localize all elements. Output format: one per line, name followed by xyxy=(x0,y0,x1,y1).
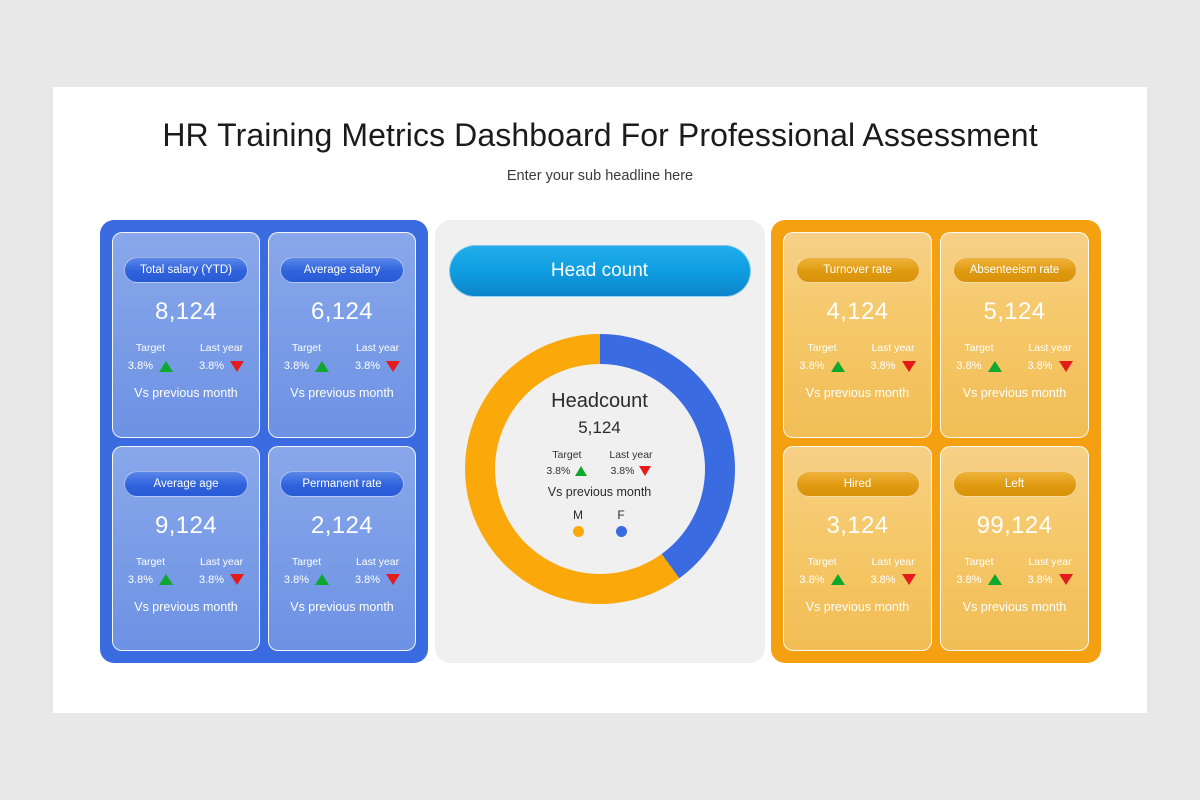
kpi-last-year: Last year 3.8% xyxy=(355,342,400,372)
kpi-last-year-label: Last year xyxy=(356,556,399,568)
kpi-target-pct: 3.8% xyxy=(956,574,981,586)
triangle-up-icon xyxy=(315,361,329,372)
kpi-target-pct: 3.8% xyxy=(284,360,309,372)
kpi-card-hired[interactable]: Hired 3,124 Target 3.8% Last year xyxy=(783,446,932,652)
kpi-value: 6,124 xyxy=(311,298,373,326)
triangle-up-icon xyxy=(159,574,173,585)
kpi-compare: Target 3.8% Last year 3.8% xyxy=(799,342,915,372)
triangle-down-icon xyxy=(639,466,651,476)
donut-center: Headcount 5,124 Target 3.8% Last year xyxy=(495,364,705,574)
kpi-last-year: Last year 3.8% xyxy=(1028,556,1073,586)
kpi-card-average-age[interactable]: Average age 9,124 Target 3.8% Last year xyxy=(112,446,260,652)
kpi-last-year-row: 3.8% xyxy=(199,360,244,372)
kpi-last-year-pct: 3.8% xyxy=(199,360,224,372)
kpi-target-label: Target xyxy=(136,342,165,354)
kpi-last-year: Last year 3.8% xyxy=(199,556,244,586)
kpi-target: Target 3.8% xyxy=(799,342,844,372)
triangle-up-icon xyxy=(988,361,1002,372)
kpi-target-pct: 3.8% xyxy=(799,360,824,372)
donut-target: Target 3.8% xyxy=(546,449,587,477)
right-kpi-grid: Turnover rate 4,124 Target 3.8% Last yea… xyxy=(783,232,1089,651)
kpi-footer: Vs previous month xyxy=(134,386,238,400)
headcount-donut-chart[interactable]: Headcount 5,124 Target 3.8% Last year xyxy=(465,334,735,604)
donut-last-year-row: 3.8% xyxy=(610,465,651,477)
kpi-value: 9,124 xyxy=(155,512,217,540)
kpi-target-pct: 3.8% xyxy=(128,360,153,372)
kpi-last-year-label: Last year xyxy=(356,342,399,354)
kpi-last-year-row: 3.8% xyxy=(355,574,400,586)
donut-legend: M F xyxy=(573,508,627,537)
page-subtitle: Enter your sub headline here xyxy=(53,168,1147,184)
kpi-card-average-salary[interactable]: Average salary 6,124 Target 3.8% Last ye… xyxy=(268,232,416,438)
kpi-footer: Vs previous month xyxy=(290,600,394,614)
kpi-compare: Target 3.8% Last year 3.8% xyxy=(956,342,1072,372)
triangle-up-icon xyxy=(831,361,845,372)
kpi-last-year-pct: 3.8% xyxy=(355,360,380,372)
kpi-target-row: 3.8% xyxy=(799,574,844,586)
triangle-down-icon xyxy=(230,574,244,585)
kpi-title-pill[interactable]: Permanent rate xyxy=(280,471,404,497)
right-metrics-panel: Turnover rate 4,124 Target 3.8% Last yea… xyxy=(771,220,1101,663)
kpi-card-turnover-rate[interactable]: Turnover rate 4,124 Target 3.8% Last yea… xyxy=(783,232,932,438)
legend-label: F xyxy=(617,508,624,522)
kpi-last-year-pct: 3.8% xyxy=(871,360,896,372)
slide-header: HR Training Metrics Dashboard For Profes… xyxy=(53,87,1147,184)
kpi-target-row: 3.8% xyxy=(284,360,329,372)
kpi-value: 8,124 xyxy=(155,298,217,326)
kpi-last-year-label: Last year xyxy=(200,556,243,568)
panels-row: Total salary (YTD) 8,124 Target 3.8% Las… xyxy=(100,220,1101,663)
kpi-last-year-row: 3.8% xyxy=(355,360,400,372)
kpi-target: Target 3.8% xyxy=(284,556,329,586)
legend-label: M xyxy=(573,508,583,522)
kpi-last-year-row: 3.8% xyxy=(199,574,244,586)
legend-dot-icon xyxy=(573,526,584,537)
kpi-target: Target 3.8% xyxy=(956,556,1001,586)
kpi-footer: Vs previous month xyxy=(806,600,910,614)
kpi-footer: Vs previous month xyxy=(290,386,394,400)
kpi-card-permanent-rate[interactable]: Permanent rate 2,124 Target 3.8% Last ye… xyxy=(268,446,416,652)
head-count-button[interactable]: Head count xyxy=(449,245,751,297)
kpi-last-year: Last year 3.8% xyxy=(871,342,916,372)
triangle-up-icon xyxy=(315,574,329,585)
kpi-target-row: 3.8% xyxy=(799,360,844,372)
kpi-card-absenteeism-rate[interactable]: Absenteeism rate 5,124 Target 3.8% Last … xyxy=(940,232,1089,438)
left-metrics-panel: Total salary (YTD) 8,124 Target 3.8% Las… xyxy=(100,220,428,663)
kpi-compare: Target 3.8% Last year 3.8% xyxy=(284,556,400,586)
kpi-compare: Target 3.8% Last year 3.8% xyxy=(128,556,244,586)
kpi-last-year-row: 3.8% xyxy=(871,574,916,586)
kpi-target: Target 3.8% xyxy=(284,342,329,372)
triangle-up-icon xyxy=(575,466,587,476)
kpi-last-year-label: Last year xyxy=(871,342,914,354)
donut-title: Headcount xyxy=(551,390,648,413)
kpi-last-year-label: Last year xyxy=(1028,342,1071,354)
left-kpi-grid: Total salary (YTD) 8,124 Target 3.8% Las… xyxy=(112,232,416,651)
kpi-title-pill[interactable]: Turnover rate xyxy=(796,257,920,283)
kpi-last-year-pct: 3.8% xyxy=(355,574,380,586)
kpi-title-pill[interactable]: Total salary (YTD) xyxy=(124,257,248,283)
kpi-footer: Vs previous month xyxy=(806,386,910,400)
triangle-down-icon xyxy=(902,361,916,372)
donut-last-year: Last year 3.8% xyxy=(609,449,652,477)
kpi-card-total-salary[interactable]: Total salary (YTD) 8,124 Target 3.8% Las… xyxy=(112,232,260,438)
kpi-target-label: Target xyxy=(964,342,993,354)
kpi-value: 3,124 xyxy=(826,512,888,540)
kpi-last-year-label: Last year xyxy=(1028,556,1071,568)
triangle-down-icon xyxy=(386,574,400,585)
kpi-title-pill[interactable]: Left xyxy=(953,471,1077,497)
kpi-target-label: Target xyxy=(292,342,321,354)
kpi-last-year-row: 3.8% xyxy=(1028,574,1073,586)
kpi-target-label: Target xyxy=(292,556,321,568)
donut-last-year-pct: 3.8% xyxy=(610,465,634,477)
kpi-compare: Target 3.8% Last year 3.8% xyxy=(284,342,400,372)
kpi-target-row: 3.8% xyxy=(128,574,173,586)
kpi-last-year-row: 3.8% xyxy=(871,360,916,372)
kpi-footer: Vs previous month xyxy=(963,386,1067,400)
donut-target-row: 3.8% xyxy=(546,465,587,477)
kpi-last-year-pct: 3.8% xyxy=(199,574,224,586)
kpi-compare: Target 3.8% Last year 3.8% xyxy=(956,556,1072,586)
kpi-last-year-label: Last year xyxy=(871,556,914,568)
donut-value: 5,124 xyxy=(578,418,621,438)
kpi-last-year: Last year 3.8% xyxy=(355,556,400,586)
kpi-target-pct: 3.8% xyxy=(128,574,153,586)
headcount-panel: Head count Headcount 5,124 Target 3.8% xyxy=(435,220,765,663)
kpi-last-year: Last year 3.8% xyxy=(199,342,244,372)
kpi-last-year-pct: 3.8% xyxy=(1028,360,1053,372)
kpi-target-label: Target xyxy=(136,556,165,568)
kpi-title-pill[interactable]: Absenteeism rate xyxy=(953,257,1077,283)
kpi-value: 99,124 xyxy=(977,512,1053,540)
kpi-target-label: Target xyxy=(964,556,993,568)
slide: HR Training Metrics Dashboard For Profes… xyxy=(53,87,1147,713)
kpi-last-year-row: 3.8% xyxy=(1028,360,1073,372)
kpi-target-pct: 3.8% xyxy=(284,574,309,586)
donut-last-year-label: Last year xyxy=(609,449,652,461)
triangle-down-icon xyxy=(1059,574,1073,585)
kpi-target: Target 3.8% xyxy=(799,556,844,586)
triangle-down-icon xyxy=(1059,361,1073,372)
legend-item-female: F xyxy=(616,508,627,537)
kpi-last-year: Last year 3.8% xyxy=(871,556,916,586)
donut-footer: Vs previous month xyxy=(548,485,652,499)
donut-target-pct: 3.8% xyxy=(546,465,570,477)
kpi-footer: Vs previous month xyxy=(963,600,1067,614)
kpi-target-label: Target xyxy=(807,556,836,568)
kpi-value: 4,124 xyxy=(826,298,888,326)
kpi-last-year-pct: 3.8% xyxy=(871,574,896,586)
kpi-title-pill[interactable]: Average salary xyxy=(280,257,404,283)
triangle-down-icon xyxy=(902,574,916,585)
kpi-compare: Target 3.8% Last year 3.8% xyxy=(799,556,915,586)
triangle-up-icon xyxy=(831,574,845,585)
legend-item-male: M xyxy=(573,508,584,537)
kpi-target-row: 3.8% xyxy=(956,574,1001,586)
kpi-title-pill[interactable]: Average age xyxy=(124,471,248,497)
kpi-compare: Target 3.8% Last year 3.8% xyxy=(128,342,244,372)
page-title: HR Training Metrics Dashboard For Profes… xyxy=(53,117,1147,154)
kpi-last-year: Last year 3.8% xyxy=(1028,342,1073,372)
kpi-target: Target 3.8% xyxy=(128,556,173,586)
kpi-last-year-pct: 3.8% xyxy=(1028,574,1053,586)
triangle-up-icon xyxy=(988,574,1002,585)
kpi-target: Target 3.8% xyxy=(128,342,173,372)
legend-dot-icon xyxy=(616,526,627,537)
kpi-target-label: Target xyxy=(807,342,836,354)
triangle-up-icon xyxy=(159,361,173,372)
kpi-footer: Vs previous month xyxy=(134,600,238,614)
kpi-target-row: 3.8% xyxy=(956,360,1001,372)
kpi-target-row: 3.8% xyxy=(128,360,173,372)
kpi-target-pct: 3.8% xyxy=(799,574,824,586)
triangle-down-icon xyxy=(230,361,244,372)
kpi-target-row: 3.8% xyxy=(284,574,329,586)
donut-target-label: Target xyxy=(552,449,581,461)
kpi-last-year-label: Last year xyxy=(200,342,243,354)
kpi-value: 5,124 xyxy=(983,298,1045,326)
kpi-card-left[interactable]: Left 99,124 Target 3.8% Last year xyxy=(940,446,1089,652)
kpi-target-pct: 3.8% xyxy=(956,360,981,372)
triangle-down-icon xyxy=(386,361,400,372)
kpi-target: Target 3.8% xyxy=(956,342,1001,372)
kpi-value: 2,124 xyxy=(311,512,373,540)
donut-compare: Target 3.8% Last year 3.8% xyxy=(546,449,652,477)
kpi-title-pill[interactable]: Hired xyxy=(796,471,920,497)
